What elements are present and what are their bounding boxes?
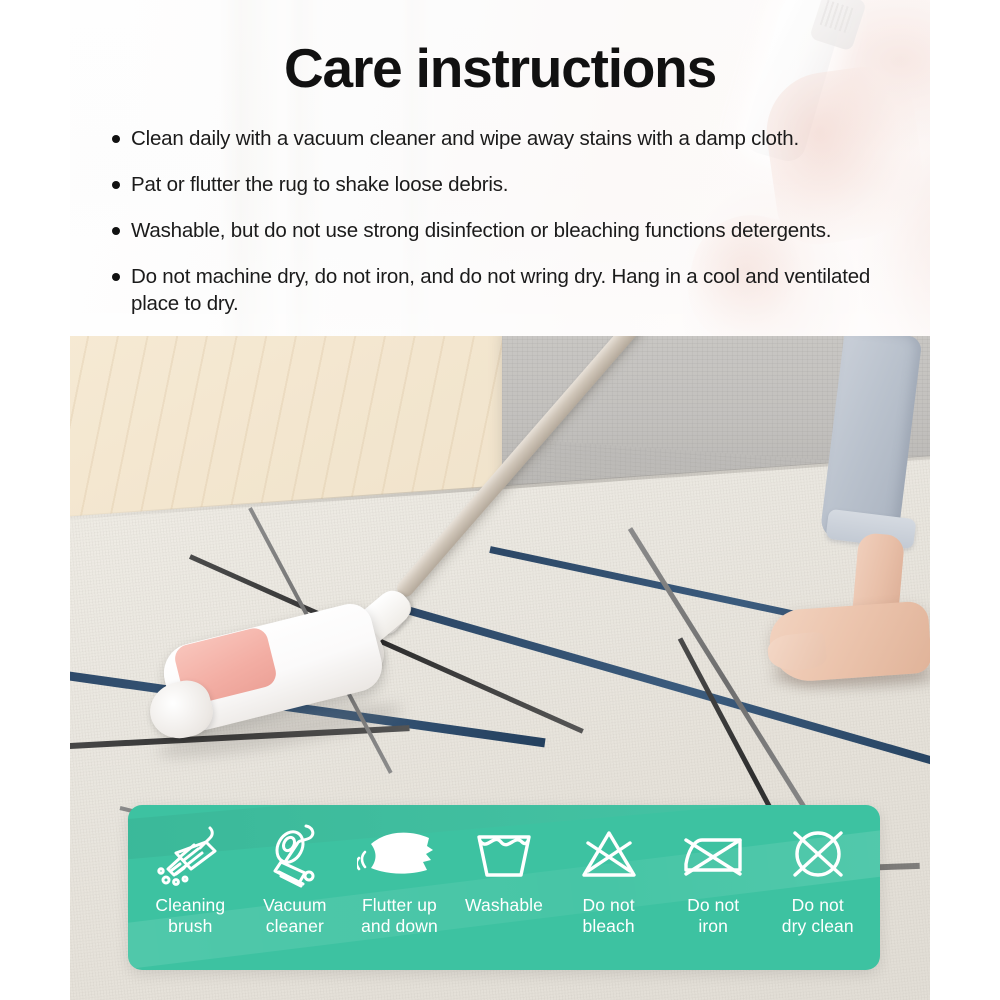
care-bullet-list: Clean daily with a vacuum cleaner and wi… — [112, 125, 902, 336]
list-item: Clean daily with a vacuum cleaner and wi… — [112, 125, 902, 152]
do-not-bleach-icon — [578, 819, 640, 891]
list-item: Pat or flutter the rug to shake loose de… — [112, 171, 902, 198]
vacuum-cleaner-icon — [259, 819, 331, 891]
care-symbols-panel: Cleaningbrush Vacuumcleaner — [128, 805, 880, 970]
care-item-label: Do notbleach — [583, 895, 635, 938]
do-not-iron-icon — [680, 819, 746, 891]
bullet-dot-icon — [112, 135, 120, 143]
care-item-label: Washable — [465, 895, 543, 916]
care-item-washable: Washable — [452, 819, 557, 916]
care-item-label: Cleaningbrush — [155, 895, 225, 938]
care-item-do-not-bleach: Do notbleach — [556, 819, 661, 938]
care-item-cleaning-brush: Cleaningbrush — [138, 819, 243, 938]
care-item-do-not-dry-clean: Do notdry clean — [765, 819, 870, 938]
care-instructions-page: Care instructions Clean daily with a vac… — [0, 0, 1000, 1000]
bullet-dot-icon — [112, 273, 120, 281]
care-item-label: Vacuumcleaner — [263, 895, 327, 938]
list-item: Do not machine dry, do not iron, and do … — [112, 263, 902, 317]
list-item-text: Washable, but do not use strong disinfec… — [131, 217, 902, 244]
do-not-dry-clean-icon — [787, 819, 849, 891]
care-item-label: Do notdry clean — [782, 895, 854, 938]
flutter-up-and-down-icon — [357, 819, 441, 891]
care-item-do-not-iron: Do notiron — [661, 819, 766, 938]
care-item-vacuum-cleaner: Vacuumcleaner — [243, 819, 348, 938]
bullet-dot-icon — [112, 181, 120, 189]
page-title: Care instructions — [0, 36, 1000, 100]
washable-icon — [473, 819, 535, 891]
care-item-label: Flutter upand down — [361, 895, 438, 938]
list-item-text: Pat or flutter the rug to shake loose de… — [131, 171, 902, 198]
care-symbols-row: Cleaningbrush Vacuumcleaner — [128, 805, 880, 970]
list-item-text: Do not machine dry, do not iron, and do … — [131, 263, 902, 317]
list-item-text: Clean daily with a vacuum cleaner and wi… — [131, 125, 902, 152]
list-item: Washable, but do not use strong disinfec… — [112, 217, 902, 244]
bullet-dot-icon — [112, 227, 120, 235]
cleaning-brush-icon — [154, 819, 226, 891]
care-item-label: Do notiron — [687, 895, 739, 938]
care-item-flutter-up-and-down: Flutter upand down — [347, 819, 452, 938]
